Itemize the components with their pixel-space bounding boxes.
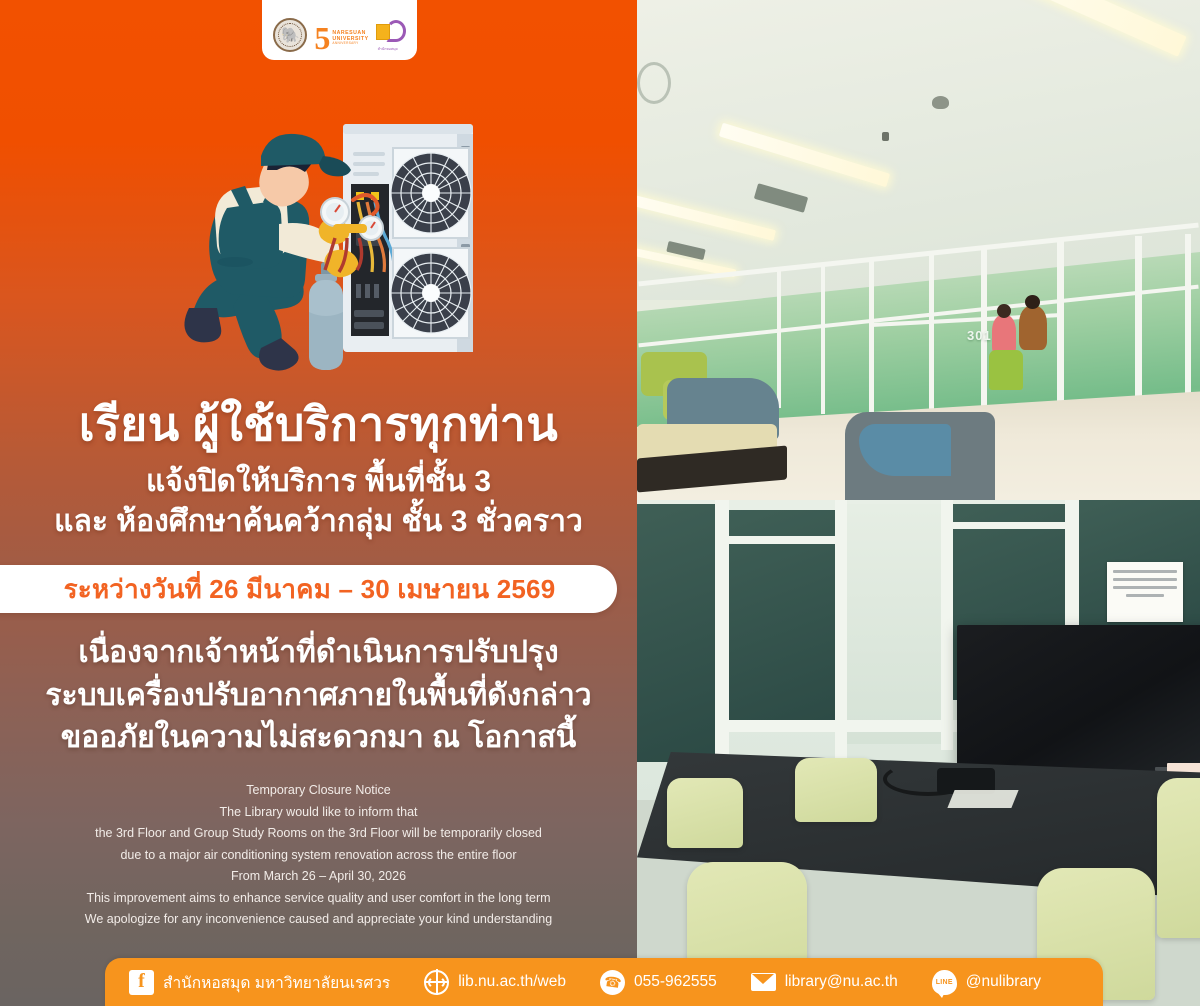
elephant-glyph: 🐘 <box>281 28 300 43</box>
anniversary-number: 5 <box>314 25 330 52</box>
subheading-line-1: แจ้งปิดให้บริการ พื้นที่ชั้น 3 <box>0 462 637 502</box>
wall-panel <box>845 504 943 744</box>
english-line-2: The Library would like to inform that <box>0 802 637 824</box>
notice-text-line <box>1113 570 1177 573</box>
contact-bar: f สำนักหอสมุด มหาวิทยาลัยนเรศวร lib.nu.a… <box>105 958 1103 1006</box>
security-camera-dome <box>932 96 949 109</box>
notice-text-line <box>1126 594 1164 597</box>
english-line-6: This improvement aims to enhance service… <box>0 888 637 910</box>
window-mullion <box>821 264 825 414</box>
body-text: เนื่องจากเจ้าหน้าที่ดำเนินการปรับปรุง ระ… <box>0 632 637 760</box>
line-badge-text: LINE <box>936 979 953 986</box>
contact-facebook[interactable]: f สำนักหอสมุด มหาวิทยาลัยนเรศวร <box>129 970 390 995</box>
room-number-label: 301 <box>967 328 992 343</box>
contact-email[interactable]: library@nu.ac.th <box>751 970 898 995</box>
library-logo-caption: สำนักหอสมุด <box>378 46 398 52</box>
illustration-svg <box>175 112 530 377</box>
library-logo-icon: สำนักหอสมุด <box>376 20 406 52</box>
english-notice-block: Temporary Closure Notice The Library wou… <box>0 780 637 931</box>
window-frame <box>729 536 839 544</box>
sprinkler-head <box>882 132 889 141</box>
library-logo-swirl-shape <box>386 20 406 42</box>
lounge-sofa <box>845 412 995 500</box>
facebook-icon: f <box>129 970 154 995</box>
body-line-3: ขออภัยในความไม่สะดวกมา ณ โอกาสนี้ <box>0 717 637 760</box>
date-range-banner: ระหว่างวันที่ 26 มีนาคม – 30 เมษายน 2569 <box>0 565 617 613</box>
window-frame <box>941 500 953 750</box>
phone-icon: ☎ <box>600 970 625 995</box>
window-mullion <box>869 258 874 420</box>
library-corridor-photo: 301 <box>637 0 1200 500</box>
wall-mounted-tv <box>957 625 1200 775</box>
mail-icon <box>751 970 776 995</box>
university-seal-elephant-icon: 🐘 <box>273 18 307 52</box>
date-range-text: ระหว่างวันที่ 26 มีนาคม – 30 เมษายน 2569 <box>42 569 556 610</box>
contact-line[interactable]: LINE @nulibrary <box>932 970 1041 995</box>
globe-icon <box>424 970 449 995</box>
study-chair <box>795 758 877 822</box>
window-mullion <box>777 268 781 408</box>
english-line-5: From March 26 – April 30, 2026 <box>0 866 637 888</box>
subheading-line-2: และ ห้องศึกษาค้นคว้ากลุ่ม ชั้น 3 ชั่วครา… <box>0 502 637 542</box>
contact-phone-label: 055-962555 <box>634 973 717 991</box>
contact-line-label: @nulibrary <box>966 973 1041 991</box>
office-chair <box>989 350 1023 390</box>
contact-phone[interactable]: ☎ 055-962555 <box>600 970 717 995</box>
paper-on-table <box>947 790 1018 808</box>
window-mullion <box>929 252 934 428</box>
air-conditioner-technician-illustration <box>175 112 530 377</box>
posted-notice-paper <box>1107 562 1183 622</box>
study-chair <box>667 778 743 848</box>
english-line-1: Temporary Closure Notice <box>0 780 637 802</box>
window-frame <box>953 522 1079 529</box>
notice-text-line <box>1113 586 1177 589</box>
english-line-7: We apologize for any inconvenience cause… <box>0 909 637 931</box>
wall-fan <box>637 62 671 104</box>
glass-partition <box>637 504 715 762</box>
university-name-line3: ANNIVERSARY <box>332 42 368 45</box>
page-title: เรียน ผู้ใช้บริการทุกท่าน <box>0 388 637 461</box>
contact-website-label: lib.nu.ac.th/web <box>458 973 566 991</box>
student-figure <box>1019 306 1047 350</box>
group-study-room-photo <box>637 500 1200 1006</box>
contact-facebook-label: สำนักหอสมุด มหาวิทยาลัยนเรศวร <box>163 970 390 995</box>
english-line-3: the 3rd Floor and Group Study Rooms on t… <box>0 823 637 845</box>
study-chair <box>1157 778 1200 938</box>
contact-website[interactable]: lib.nu.ac.th/web <box>424 970 566 995</box>
notice-text-line <box>1113 578 1177 581</box>
poster-root: 🐘 5 NARESUAN UNIVERSITY ANNIVERSARY สำนั… <box>0 0 1200 1006</box>
student-figure <box>992 315 1016 355</box>
english-line-4: due to a major air conditioning system r… <box>0 845 637 867</box>
body-line-2: ระบบเครื่องปรับอากาศภายในพื้นที่ดังกล่าว <box>0 675 637 718</box>
refrigerant-gas-cylinder <box>309 262 343 370</box>
university-logo-card: 🐘 5 NARESUAN UNIVERSITY ANNIVERSARY สำนั… <box>262 0 417 60</box>
anniversary-logo: 5 NARESUAN UNIVERSITY ANNIVERSARY <box>314 25 368 52</box>
subheading: แจ้งปิดให้บริการ พื้นที่ชั้น 3 และ ห้องศ… <box>0 462 637 542</box>
window-frame <box>715 720 965 732</box>
contact-email-label: library@nu.ac.th <box>785 973 898 991</box>
body-line-1: เนื่องจากเจ้าหน้าที่ดำเนินการปรับปรุง <box>0 632 637 675</box>
outdoor-ac-condenser-unit <box>343 124 473 352</box>
line-icon: LINE <box>932 970 957 995</box>
